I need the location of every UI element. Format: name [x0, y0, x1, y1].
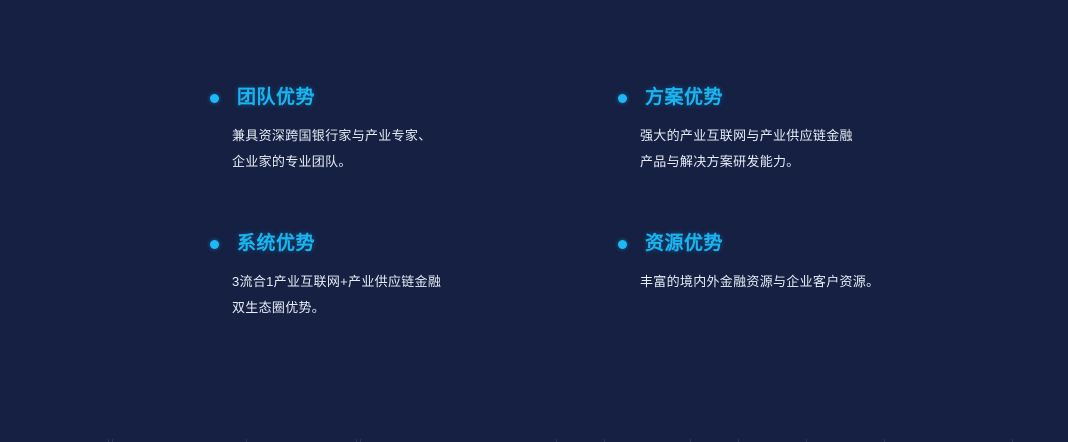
advantage-description: 丰富的境内外金融资源与企业客户资源。 [640, 269, 970, 295]
advantage-description-line: 丰富的境内外金融资源与企业客户资源。 [640, 269, 970, 295]
advantages-slide: 团队优势 兼具资深跨国银行家与产业专家、 企业家的专业团队。 方案优势 强大的产… [0, 0, 1068, 442]
bullet-dot-icon [618, 240, 627, 249]
advantage-item-system[interactable]: 系统优势 3流合1产业互联网+产业供应链金融 双生态圈优势。 [210, 231, 618, 321]
advantage-item-team[interactable]: 团队优势 兼具资深跨国银行家与产业专家、 企业家的专业团队。 [210, 85, 618, 231]
advantage-title: 资源优势 [645, 233, 723, 255]
advantage-heading: 系统优势 [210, 231, 618, 257]
advantage-description-line: 兼具资深跨国银行家与产业专家、 [232, 123, 618, 149]
advantage-item-solution[interactable]: 方案优势 强大的产业互联网与产业供应链金融 产品与解决方案研发能力。 [618, 85, 970, 231]
advantage-item-resource[interactable]: 资源优势 丰富的境内外金融资源与企业客户资源。 [618, 231, 970, 321]
advantage-heading: 方案优势 [618, 85, 970, 111]
advantage-description-line: 企业家的专业团队。 [232, 149, 618, 175]
advantage-title: 系统优势 [237, 233, 315, 255]
bullet-dot-icon [618, 94, 627, 103]
advantage-description-line: 强大的产业互联网与产业供应链金融 [640, 123, 970, 149]
bullet-dot-icon [210, 240, 219, 249]
advantages-row-bottom: 系统优势 3流合1产业互联网+产业供应链金融 双生态圈优势。 资源优势 丰富的境… [210, 231, 970, 321]
advantage-description-line: 双生态圈优势。 [232, 295, 618, 321]
advantage-description: 3流合1产业互联网+产业供应链金融 双生态圈优势。 [232, 269, 618, 321]
advantage-description-line: 产品与解决方案研发能力。 [640, 149, 970, 175]
advantage-title: 团队优势 [237, 87, 315, 109]
advantage-heading: 资源优势 [618, 231, 970, 257]
advantage-description-line: 3流合1产业互联网+产业供应链金融 [232, 269, 618, 295]
bullet-dot-icon [210, 94, 219, 103]
advantage-description: 兼具资深跨国银行家与产业专家、 企业家的专业团队。 [232, 123, 618, 175]
advantages-row-top: 团队优势 兼具资深跨国银行家与产业专家、 企业家的专业团队。 方案优势 强大的产… [210, 85, 970, 231]
advantage-heading: 团队优势 [210, 85, 618, 111]
advantage-description: 强大的产业互联网与产业供应链金融 产品与解决方案研发能力。 [640, 123, 970, 175]
advantage-title: 方案优势 [645, 87, 723, 109]
advantages-grid: 团队优势 兼具资深跨国银行家与产业专家、 企业家的专业团队。 方案优势 强大的产… [210, 85, 970, 321]
